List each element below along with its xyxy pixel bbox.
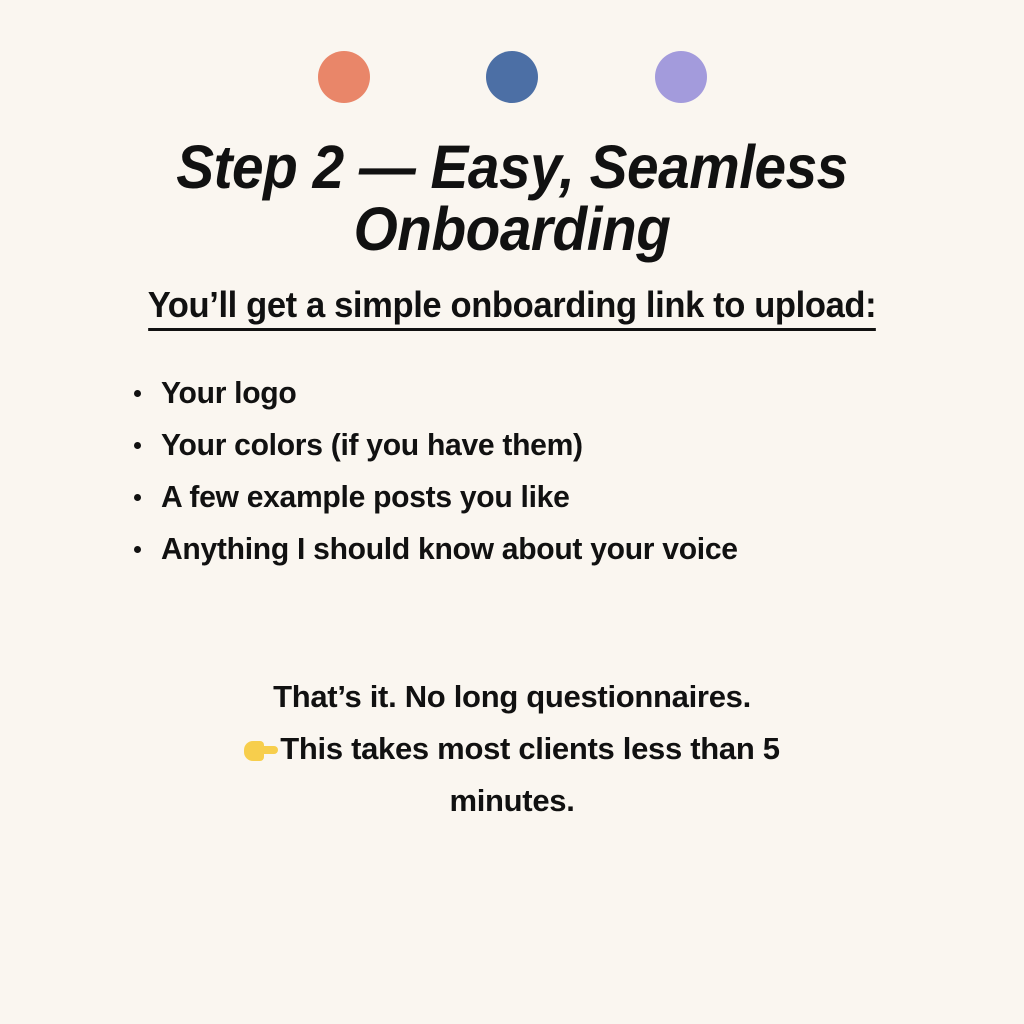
list-item-label: Anything I should know about your voice — [161, 528, 738, 570]
dot-blue-icon — [486, 51, 538, 103]
dot-periwinkle-icon — [655, 51, 707, 103]
bullet-dot-icon — [134, 546, 141, 553]
closing-line-2: This takes most clients less than 5 — [150, 723, 874, 775]
closing-line-2-label: This takes most clients less than 5 — [280, 731, 779, 766]
bullet-dot-icon — [134, 442, 141, 449]
subtitle-underlined: You’ll get a simple onboarding link to u… — [80, 285, 944, 331]
list-item-label: Your colors (if you have them) — [161, 424, 583, 466]
subtitle-text: You’ll get a simple onboarding link to u… — [148, 285, 877, 331]
list-item: A few example posts you like — [130, 476, 756, 518]
closing-paragraph: That’s it. No long questionnaires. This … — [150, 671, 874, 827]
list-item: Your logo — [130, 372, 756, 414]
list-item: Your colors (if you have them) — [130, 424, 756, 466]
bullet-dot-icon — [134, 494, 141, 501]
page-title: Step 2 — Easy, Seamless Onboarding — [125, 136, 899, 260]
decorative-dots-row — [0, 51, 1024, 103]
closing-line-3: minutes. — [150, 775, 874, 827]
list-item-label: A few example posts you like — [161, 476, 570, 518]
upload-checklist: Your logo Your colors (if you have them)… — [130, 372, 756, 580]
list-item-label: Your logo — [161, 372, 296, 414]
dot-coral-icon — [318, 51, 370, 103]
pointing-right-hand-icon — [244, 739, 278, 763]
slide-canvas: Step 2 — Easy, Seamless Onboarding You’l… — [0, 0, 1024, 1024]
bullet-dot-icon — [134, 390, 141, 397]
closing-line-1: That’s it. No long questionnaires. — [150, 671, 874, 723]
list-item: Anything I should know about your voice — [130, 528, 756, 570]
